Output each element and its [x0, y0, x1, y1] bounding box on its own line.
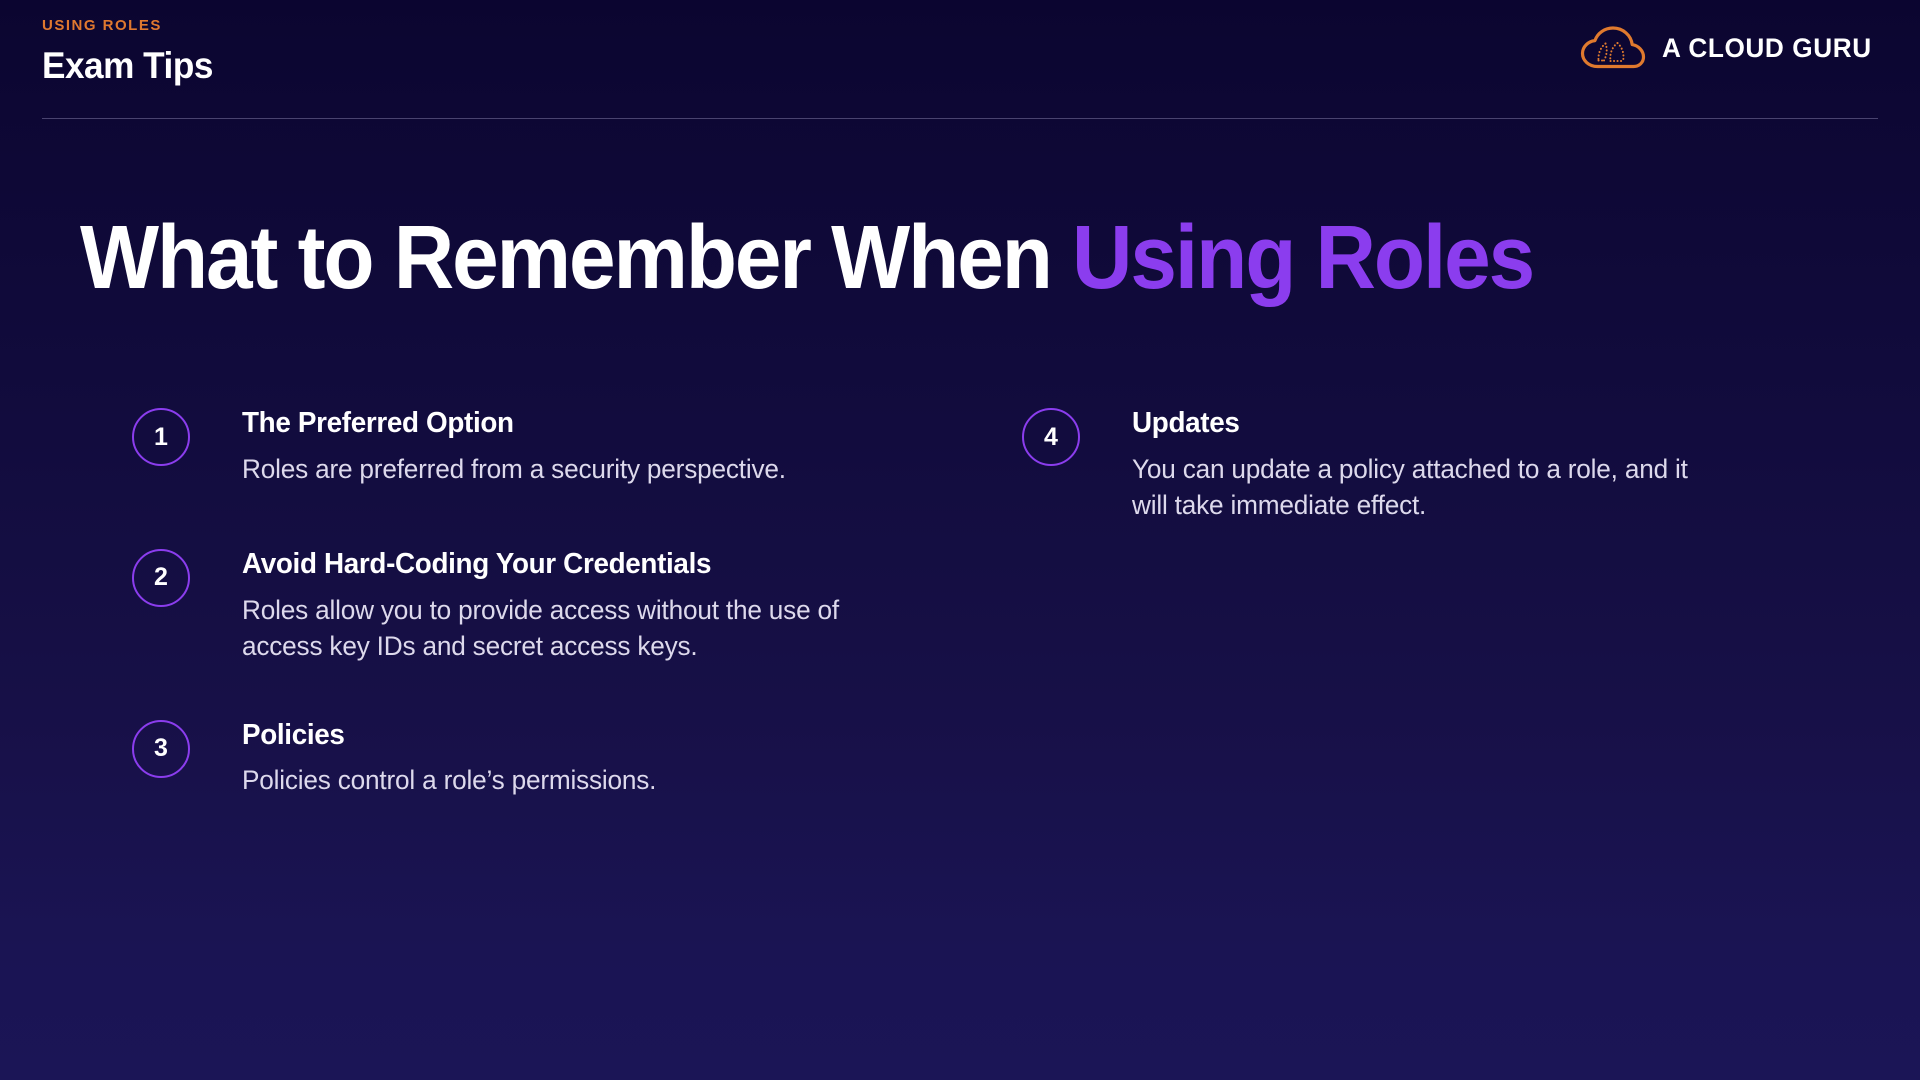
tip-number-badge: 1 — [132, 408, 190, 466]
tip-description: Roles allow you to provide access withou… — [242, 593, 873, 665]
tip-description: You can update a policy attached to a ro… — [1132, 452, 1724, 524]
brand-lockup: A CLOUD GURU — [1580, 26, 1878, 70]
tips-column-left: 1 The Preferred Option Roles are preferr… — [132, 406, 892, 799]
slide-root: USING ROLES Exam Tips A CLOUD GURU — [0, 0, 1920, 1080]
tip-title: Updates — [1132, 408, 1718, 440]
header-title-group: USING ROLES Exam Tips — [42, 18, 222, 84]
page-title-accent: Using Roles — [1072, 208, 1533, 308]
tip-description: Policies control a role’s permissions. — [242, 763, 656, 799]
tip-title: Policies — [242, 720, 652, 752]
tip-title: Avoid Hard-Coding Your Credentials — [242, 549, 866, 581]
page-title-plain: What to Remember When — [80, 208, 1072, 308]
header-deck-title: Exam Tips — [42, 47, 213, 84]
tip-number-badge: 3 — [132, 720, 190, 778]
page-title: What to Remember When Using Roles — [80, 213, 1533, 303]
brand-name: A CLOUD GURU — [1662, 35, 1872, 62]
tip-item: 4 Updates You can update a policy attach… — [1022, 406, 1742, 524]
cloud-guru-logo-icon — [1580, 26, 1646, 70]
tip-description: Roles are preferred from a security pers… — [242, 452, 786, 488]
tip-title: The Preferred Option — [242, 408, 780, 440]
tips-column-right: 4 Updates You can update a policy attach… — [1022, 406, 1742, 524]
tip-item: 3 Policies Policies control a role’s per… — [132, 718, 892, 800]
tip-body: Avoid Hard-Coding Your Credentials Roles… — [242, 547, 892, 665]
header-divider — [42, 118, 1878, 119]
tip-body: The Preferred Option Roles are preferred… — [242, 406, 803, 488]
tip-number-badge: 2 — [132, 549, 190, 607]
tip-body: Updates You can update a policy attached… — [1132, 406, 1742, 524]
tip-number-badge: 4 — [1022, 408, 1080, 466]
slide-header: USING ROLES Exam Tips A CLOUD GURU — [0, 0, 1920, 120]
tip-item: 2 Avoid Hard-Coding Your Credentials Rol… — [132, 547, 892, 665]
header-eyebrow: USING ROLES — [42, 18, 222, 33]
tip-body: Policies Policies control a role’s permi… — [242, 718, 669, 800]
tip-item: 1 The Preferred Option Roles are preferr… — [132, 406, 892, 488]
